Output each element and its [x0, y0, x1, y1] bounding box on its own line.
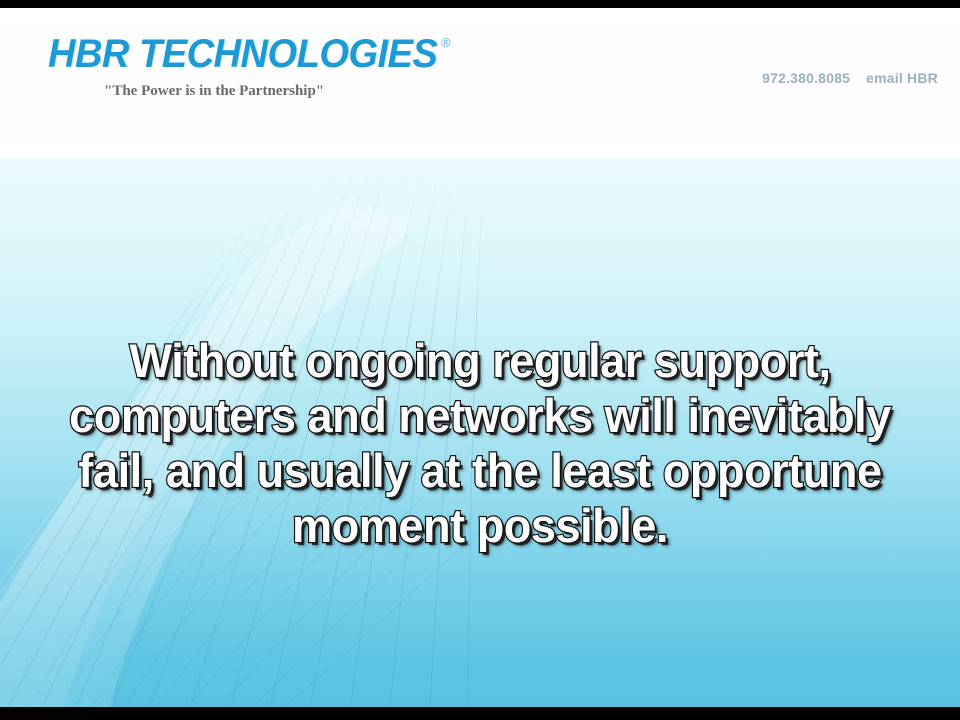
- video-content: HBR TECHNOLOGIES® "The Power is in the P…: [0, 8, 960, 707]
- contact-info: 972.380.8085email HBR: [762, 70, 938, 86]
- logo-wordmark: HBR TECHNOLOGIES®: [48, 34, 447, 74]
- letterbox-top: [0, 0, 960, 8]
- video-frame: HBR TECHNOLOGIES® "The Power is in the P…: [0, 0, 960, 720]
- caption-line: fail, and usually at the least opportune: [19, 443, 941, 498]
- caption-line: computers and networks will inevitably: [19, 388, 941, 443]
- page-header: HBR TECHNOLOGIES® "The Power is in the P…: [0, 8, 960, 158]
- email-link[interactable]: email HBR: [866, 70, 938, 86]
- logo-wordmark-text: HBR TECHNOLOGIES: [48, 32, 437, 76]
- caption-block: Without ongoing regular support, compute…: [0, 333, 960, 553]
- caption-line: moment possible.: [19, 498, 941, 553]
- logo-tagline: "The Power is in the Partnership": [104, 83, 468, 100]
- registered-trademark-icon: ®: [441, 36, 450, 49]
- brand-logo[interactable]: HBR TECHNOLOGIES® "The Power is in the P…: [48, 34, 468, 100]
- letterbox-bottom: [0, 707, 960, 720]
- phone-number[interactable]: 972.380.8085: [762, 70, 850, 86]
- caption-line: Without ongoing regular support,: [19, 333, 941, 388]
